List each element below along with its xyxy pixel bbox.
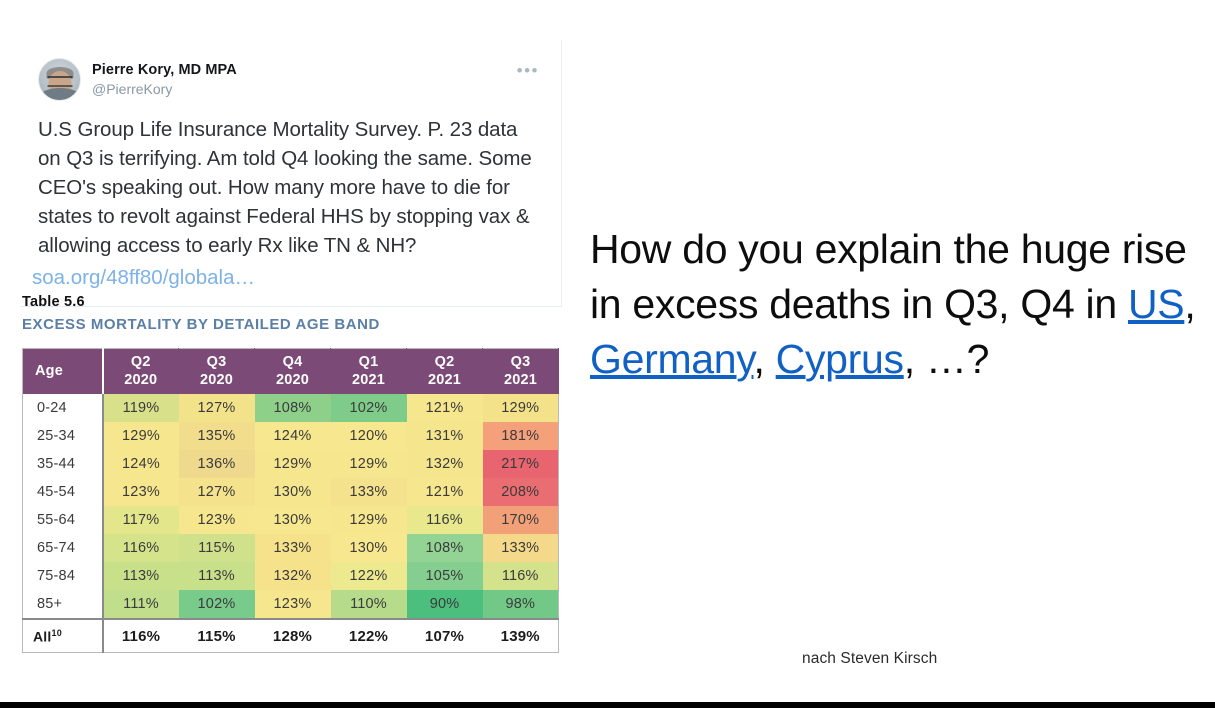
age-band-cell: 75-84	[23, 562, 103, 590]
age-band-cell: 0-24	[23, 394, 103, 422]
tweet-inner: Pierre Kory, MD MPA @PierreKory ••• U.S …	[20, 40, 561, 306]
total-cell: 139%	[483, 619, 559, 653]
column-header-q2-2021: Q2 2021	[407, 349, 483, 395]
tweet-card: Pierre Kory, MD MPA @PierreKory ••• U.S …	[20, 40, 562, 307]
table-total-row: All10116%115%128%122%107%139%	[23, 619, 559, 653]
more-options-icon[interactable]: •••	[517, 62, 539, 79]
mortality-cell: 102%	[179, 590, 255, 619]
mortality-cell: 170%	[483, 506, 559, 534]
column-header-age: Age	[23, 349, 103, 395]
column-header-q2-2020: Q2 2020	[103, 349, 179, 395]
mortality-cell: 102%	[331, 394, 407, 422]
age-band-cell: 35-44	[23, 450, 103, 478]
col-year: 2020	[104, 372, 179, 389]
table-row: 0-24119%127%108%102%121%129%	[23, 394, 559, 422]
mortality-cell: 121%	[407, 394, 483, 422]
mortality-cell: 135%	[179, 422, 255, 450]
link-germany[interactable]: Germany	[590, 336, 753, 382]
mortality-cell: 130%	[331, 534, 407, 562]
col-year: 2020	[179, 372, 254, 389]
col-quarter: Q3	[179, 354, 254, 371]
mortality-cell: 131%	[407, 422, 483, 450]
mortality-cell: 117%	[103, 506, 179, 534]
mortality-cell: 120%	[331, 422, 407, 450]
mortality-cell: 105%	[407, 562, 483, 590]
mortality-cell: 110%	[331, 590, 407, 619]
table-body: 0-24119%127%108%102%121%129%25-34129%135…	[23, 394, 559, 653]
age-band-cell: 85+	[23, 590, 103, 619]
tweet-identity: Pierre Kory, MD MPA @PierreKory	[92, 58, 237, 98]
total-row-label: All10	[23, 619, 103, 653]
col-quarter: Q4	[255, 354, 330, 371]
mortality-cell: 113%	[103, 562, 179, 590]
mortality-cell: 129%	[103, 422, 179, 450]
mortality-cell: 217%	[483, 450, 559, 478]
total-cell: 107%	[407, 619, 483, 653]
column-header-q3-2020: Q3 2020	[179, 349, 255, 395]
age-band-cell: 45-54	[23, 478, 103, 506]
mortality-cell: 136%	[179, 450, 255, 478]
mortality-cell: 132%	[407, 450, 483, 478]
mortality-cell: 113%	[179, 562, 255, 590]
age-band-cell: 25-34	[23, 422, 103, 450]
tweet-author-name: Pierre Kory, MD MPA	[92, 61, 237, 79]
table-row: 45-54123%127%130%133%121%208%	[23, 478, 559, 506]
mortality-cell: 133%	[331, 478, 407, 506]
total-cell: 122%	[331, 619, 407, 653]
headline-text-part1: How do you explain the huge rise in exce…	[590, 226, 1187, 327]
attribution-credit: nach Steven Kirsch	[802, 650, 937, 668]
mortality-cell: 127%	[179, 478, 255, 506]
age-band-cell: 55-64	[23, 506, 103, 534]
mortality-cell: 90%	[407, 590, 483, 619]
table-row: 65-74116%115%133%130%108%133%	[23, 534, 559, 562]
table-number: Table 5.6	[22, 294, 560, 310]
column-header-q1-2021: Q1 2021	[331, 349, 407, 395]
link-cyprus[interactable]: Cyprus	[776, 336, 904, 382]
mortality-cell: 123%	[179, 506, 255, 534]
table-row: 25-34129%135%124%120%131%181%	[23, 422, 559, 450]
mortality-cell: 119%	[103, 394, 179, 422]
mortality-cell: 124%	[103, 450, 179, 478]
total-cell: 128%	[255, 619, 331, 653]
excess-mortality-table: Age Q2 2020 Q3 2020 Q4 2020 Q1	[22, 348, 559, 653]
mortality-cell: 123%	[255, 590, 331, 619]
table-row: 75-84113%113%132%122%105%116%	[23, 562, 559, 590]
mortality-cell: 208%	[483, 478, 559, 506]
mortality-table-block: Table 5.6 EXCESS MORTALITY BY DETAILED A…	[22, 294, 560, 653]
mortality-cell: 121%	[407, 478, 483, 506]
avatar-glasses	[47, 76, 72, 87]
mortality-cell: 133%	[483, 534, 559, 562]
mortality-cell: 123%	[103, 478, 179, 506]
tweet-author-handle: @PierreKory	[92, 80, 237, 98]
mortality-cell: 108%	[407, 534, 483, 562]
mortality-cell: 130%	[255, 506, 331, 534]
mortality-cell: 116%	[483, 562, 559, 590]
col-year: 2020	[255, 372, 330, 389]
mortality-cell: 116%	[407, 506, 483, 534]
avatar-body	[40, 88, 80, 101]
headline-tail: , …?	[904, 336, 989, 382]
mortality-cell: 129%	[331, 506, 407, 534]
col-year: 2021	[483, 372, 558, 389]
mortality-cell: 111%	[103, 590, 179, 619]
table-title: EXCESS MORTALITY BY DETAILED AGE BAND	[22, 316, 560, 333]
bottom-bar	[0, 702, 1215, 708]
mortality-cell: 115%	[179, 534, 255, 562]
page-title: How do you explain the huge rise in exce…	[590, 222, 1208, 387]
mortality-cell: 127%	[179, 394, 255, 422]
column-header-q3-2021: Q3 2021	[483, 349, 559, 395]
mortality-cell: 129%	[483, 394, 559, 422]
mortality-cell: 122%	[331, 562, 407, 590]
mortality-cell: 181%	[483, 422, 559, 450]
total-cell: 115%	[179, 619, 255, 653]
mortality-cell: 129%	[331, 450, 407, 478]
link-us[interactable]: US	[1128, 281, 1184, 327]
table-row: 35-44124%136%129%129%132%217%	[23, 450, 559, 478]
mortality-cell: 133%	[255, 534, 331, 562]
mortality-cell: 129%	[255, 450, 331, 478]
tweet-header: Pierre Kory, MD MPA @PierreKory •••	[32, 58, 539, 101]
table-row: 85+111%102%123%110%90%98%	[23, 590, 559, 619]
slide-canvas: Pierre Kory, MD MPA @PierreKory ••• U.S …	[0, 0, 1215, 708]
headline-sep1: ,	[1184, 281, 1195, 327]
mortality-cell: 132%	[255, 562, 331, 590]
col-quarter: Q2	[407, 354, 482, 371]
total-row-footnote-marker: 10	[52, 628, 62, 638]
col-quarter: Q3	[483, 354, 558, 371]
table-header-row: Age Q2 2020 Q3 2020 Q4 2020 Q1	[23, 349, 559, 395]
tweet-body-text: U.S Group Life Insurance Mortality Surve…	[32, 115, 539, 261]
headline-sep2: ,	[753, 336, 775, 382]
tweet-link[interactable]: soa.org/48ff80/globala…	[32, 263, 255, 292]
mortality-cell: 124%	[255, 422, 331, 450]
total-cell: 116%	[103, 619, 179, 653]
col-year: 2021	[407, 372, 482, 389]
table-row: 55-64117%123%130%129%116%170%	[23, 506, 559, 534]
col-year: 2021	[331, 372, 406, 389]
column-header-q4-2020: Q4 2020	[255, 349, 331, 395]
col-quarter: Q2	[104, 354, 179, 371]
mortality-cell: 98%	[483, 590, 559, 619]
mortality-cell: 108%	[255, 394, 331, 422]
mortality-cell: 116%	[103, 534, 179, 562]
col-quarter: Q1	[331, 354, 406, 371]
mortality-cell: 130%	[255, 478, 331, 506]
avatar	[38, 58, 81, 101]
age-band-cell: 65-74	[23, 534, 103, 562]
